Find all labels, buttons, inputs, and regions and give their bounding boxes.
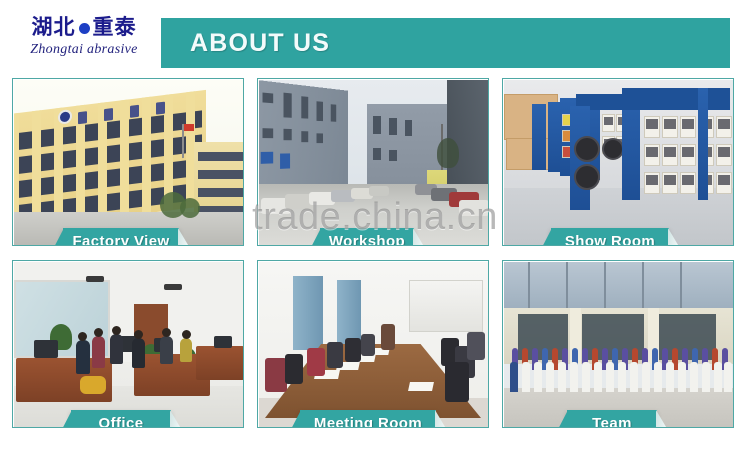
caption-label: Meeting Room [314,415,422,428]
logo-cn-left: 湖北 [32,15,76,39]
about-us-page: 湖北重泰 Zhongtai abrasive ABOUT US [0,0,750,458]
photo-workshop [259,80,489,246]
photo-frame: Show Room [502,78,734,246]
photo-caption-ribbon: Office [71,410,171,428]
gallery-item-factory-view[interactable]: Factory View [12,78,244,246]
photo-grid: Factory View [0,78,750,458]
photo-caption-ribbon: Meeting Room [300,410,436,428]
photo-frame: Office [12,260,244,428]
photo-meeting-room [259,262,489,428]
photo-factory-view [14,80,244,246]
photo-frame: Meeting Room [257,260,489,428]
gallery-item-workshop[interactable]: Workshop [257,78,489,246]
logo-dot-icon [79,23,90,34]
page-header: 湖北重泰 Zhongtai abrasive ABOUT US [0,0,750,78]
caption-label: Factory View [72,233,169,246]
logo-chinese-name: 湖北重泰 [10,14,158,40]
caption-label: Workshop [329,233,405,246]
photo-caption-ribbon: Team [567,410,657,428]
gallery-item-team[interactable]: Team [502,260,734,428]
gallery-item-show-room[interactable]: Show Room [502,78,734,246]
gallery-item-meeting-room[interactable]: Meeting Room [257,260,489,428]
photo-caption-ribbon: Workshop [320,228,414,246]
caption-label: Team [592,415,632,428]
caption-label: Office [99,415,144,428]
photo-office [14,262,244,428]
logo-english-name: Zhongtai abrasive [10,41,158,58]
photo-show-room [504,80,734,246]
photo-frame: Factory View [12,78,244,246]
photo-caption-ribbon: Show Room [551,228,669,246]
photo-caption-ribbon: Factory View [63,228,179,246]
about-us-banner: ABOUT US [161,18,730,68]
company-logo: 湖北重泰 Zhongtai abrasive [10,14,158,58]
gallery-item-office[interactable]: Office [12,260,244,428]
photo-frame: Workshop [257,78,489,246]
caption-label: Show Room [565,233,655,246]
logo-cn-right: 重泰 [93,15,137,39]
page-title: ABOUT US [190,29,330,58]
photo-team [504,262,734,428]
photo-frame: Team [502,260,734,428]
